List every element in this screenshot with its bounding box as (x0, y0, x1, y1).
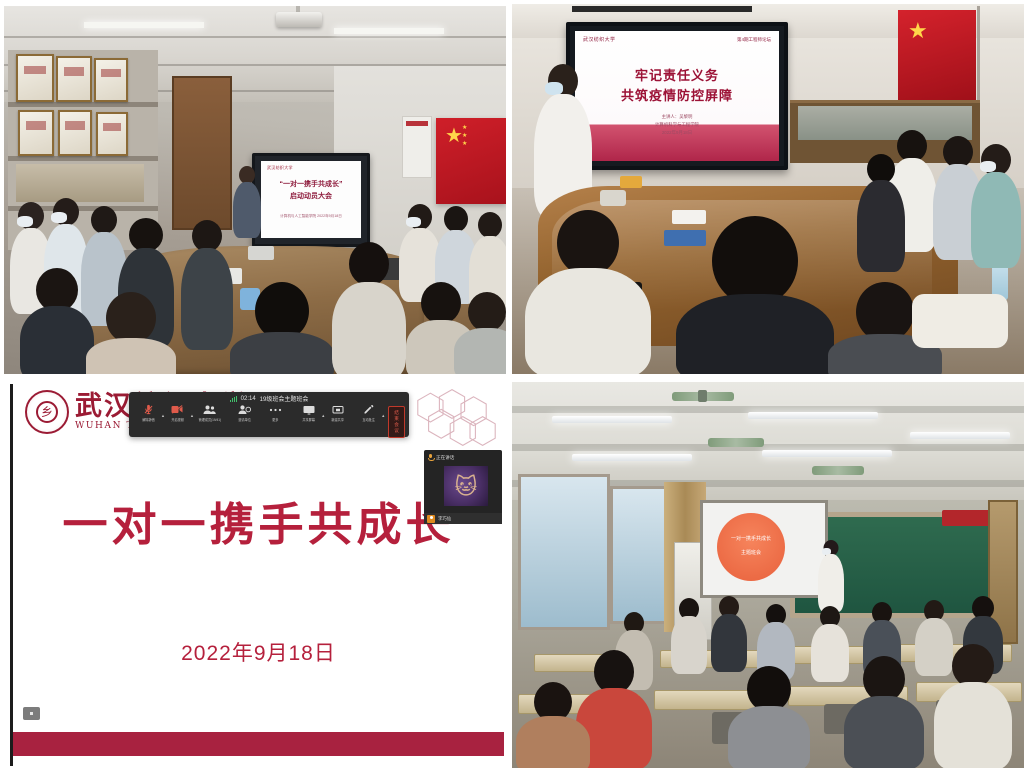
participant-name: 李巧仙 (438, 516, 451, 522)
signal-bars-icon (230, 396, 237, 402)
award-plaque (18, 110, 54, 156)
slide-text-line1: 一对一携手共成长 (717, 535, 785, 543)
photo-collage: ★★★ 武汉纺织大学 “一对一携手共成长” 启动动员大会 (0, 0, 1024, 768)
student-foreground (846, 656, 922, 768)
slide-text-line2: 主题班会 (717, 549, 785, 557)
projection-screen: 一对一携手共成长 主题班会 (700, 500, 828, 598)
participants-icon (203, 404, 216, 415)
avatar: 🐱 (444, 466, 488, 506)
camera-off-icon (171, 404, 184, 415)
pencil-case (620, 176, 642, 188)
speaking-status-label: 正在讲话 (436, 455, 454, 461)
slide-subtitle: 计算机与人工智能学院 2022年9月18日 (261, 213, 361, 219)
toolbar-group-share: 共享屏幕 ▲ 新建共享 (293, 404, 382, 422)
classroom-scene: 一对一携手共成长 主题班会 (512, 382, 1024, 768)
ceiling-light (762, 450, 892, 457)
annotate-icon (362, 404, 375, 415)
university-seal-icon (25, 390, 69, 434)
toolbar-participants-label: 管理成员(19/41) (199, 417, 221, 422)
slide-brand: 武汉纺织大学 (267, 165, 293, 171)
chevron-up-icon[interactable]: ▲ (381, 409, 385, 418)
china-flag-icon (898, 10, 976, 106)
toolbar-participants-button[interactable]: 管理成员(19/41) (191, 404, 229, 422)
slide-title-line2: 共筑疫情防控屏障 (575, 85, 779, 104)
slide-surface: 武汉纺织大学 “一对一携手共成长” 启动动员大会 计算机与人工智能学院 2022… (261, 161, 361, 238)
photo-top-left: ★★★ 武汉纺织大学 “一对一携手共成长” 启动动员大会 (4, 6, 506, 374)
shared-screen-capture: 武汉纺织大学 WUHAN TEXTILE UNIVERSITY 班会 (2, 382, 506, 768)
toolbar-invite-button[interactable]: 邀请单位 (229, 404, 260, 422)
attendee (22, 268, 92, 374)
door (172, 76, 232, 230)
participant-name-bar: 李巧仙 (424, 513, 502, 524)
share-screen-icon (302, 404, 315, 415)
toolbar-controls-row: 解除静音 ▲ (133, 404, 405, 438)
more-icon (269, 404, 282, 415)
seminar-room-scene: ★★★ 武汉纺织大学 “一对一携手共成长” 启动动员大会 (4, 6, 506, 374)
host-badge-icon (427, 515, 435, 523)
toolbar-new-share-button[interactable]: 新建共享 (322, 404, 353, 422)
slide-nav-button[interactable] (23, 707, 40, 720)
attendee (972, 144, 1020, 266)
student (712, 596, 746, 670)
student-foreground (518, 682, 588, 768)
student-foreground (730, 666, 808, 768)
award-plaque (16, 54, 54, 102)
presenter (232, 166, 262, 238)
hexagon-pattern-icon (406, 386, 498, 458)
slide-title-line1: “一对一携手共成长” (261, 179, 361, 189)
award-plaque (58, 110, 92, 156)
cat-avatar-icon: 🐱 (455, 476, 478, 498)
slide-brand-right: 第4期工程师论坛 (737, 37, 771, 43)
photo-bottom-left: 武汉纺织大学 WUHAN TEXTILE UNIVERSITY 班会 (2, 382, 506, 768)
slide-surface: 武汉纺织大学 第4期工程师论坛 牢记责任义务 共筑疫情防控屏障 主讲人：吴黎明 … (575, 31, 779, 161)
ceiling-fan-icon (708, 438, 764, 447)
toolbar-share-screen-label: 共享屏幕 (303, 417, 316, 422)
ceiling-fan-icon (812, 466, 864, 475)
slide-title-line2: 启动动员大会 (261, 191, 361, 201)
ceiling-line (4, 36, 506, 38)
slide-subtitle-line2: 计算机科学与工程学院 (575, 121, 779, 128)
attendee (234, 282, 330, 374)
photo-bottom-right: 一对一携手共成长 主题班会 (512, 382, 1024, 768)
photo-top-right: 武汉纺织大学 第4期工程师论坛 牢记责任义务 共筑疫情防控屏障 主讲人：吴黎明 … (512, 4, 1024, 374)
conference-room-scene: 武汉纺织大学 第4期工程师论坛 牢记责任义务 共筑疫情防控屏障 主讲人：吴黎明 … (512, 4, 1024, 374)
toolbar-more-label: 更多 (272, 417, 278, 422)
toolbar-annotate-button[interactable]: 互动批注 (353, 404, 384, 422)
student (672, 598, 706, 672)
meeting-title: 19级班会主题班会 (260, 394, 309, 403)
shelf-plank (8, 102, 158, 107)
toolbar-status-row: 02:14 19级班会主题班会 (129, 394, 409, 403)
slide-bottom-bar (13, 732, 504, 756)
toolbar-annotate-label: 互动批注 (362, 417, 375, 422)
toolbar-start-video-button[interactable]: 开启视频 (162, 404, 193, 422)
toolbar-unmute-button[interactable]: 解除静音 (133, 404, 164, 422)
ceiling-lamp (334, 28, 444, 34)
award-plaque (96, 112, 128, 156)
attendee (858, 154, 904, 270)
attendee (88, 292, 174, 374)
slide-brand-left: 武汉纺织大学 (583, 36, 615, 43)
whiteboard-icon (331, 404, 344, 415)
toolbar-invite-label: 邀请单位 (238, 417, 251, 422)
toolbar-group-audio-video: 解除静音 ▲ (133, 404, 291, 422)
end-meeting-button[interactable]: 结束会议 (388, 406, 405, 438)
toolbar-unmute-label: 解除静音 (142, 417, 155, 422)
projector-icon (276, 12, 322, 27)
slide-subtitle-line1: 主讲人：吴黎明 (575, 113, 779, 120)
flag-pole (977, 6, 980, 114)
bookcase-glass (798, 106, 972, 140)
student-foreground (936, 644, 1010, 768)
window (518, 474, 610, 630)
tencent-meeting-toolbar[interactable]: 02:14 19级班会主题班会 (129, 392, 409, 437)
presentation-display: 武汉纺织大学 第4期工程师论坛 牢记责任义务 共筑疫情防控屏障 主讲人：吴黎明 … (566, 22, 788, 170)
attendee (334, 242, 404, 374)
attendee-foreground (528, 210, 648, 374)
microphone-muted-icon (142, 404, 155, 415)
attendee (456, 292, 506, 374)
ceiling-rail (572, 6, 752, 12)
jacket-on-table (912, 294, 1008, 348)
toolbar-new-share-label: 新建共享 (331, 417, 344, 422)
ceiling-fan-hub (698, 390, 707, 402)
microphone-icon (428, 454, 433, 461)
china-flag-icon: ★★★ (436, 118, 506, 204)
red-banner-sign (942, 510, 992, 526)
speaking-status: 正在讲话 (428, 454, 454, 461)
attendee-foreground (680, 216, 830, 374)
ceiling-light (910, 432, 1010, 439)
toolbar-start-video-label: 开启视频 (171, 417, 184, 422)
toolbar-share-screen-button[interactable]: 共享屏幕 (293, 404, 324, 422)
projection-screen: 武汉纺织大学 “一对一携手共成长” 启动动员大会 计算机与人工智能学院 2022… (252, 153, 370, 247)
ceiling-light (552, 416, 672, 423)
slide-date: 2022年9月18日 (13, 637, 504, 667)
invite-icon (238, 404, 251, 415)
cup (600, 190, 626, 206)
presentation-slide: 武汉纺织大学 WUHAN TEXTILE UNIVERSITY 班会 (10, 384, 504, 766)
teacher (818, 540, 844, 610)
toolbar-more-button[interactable]: 更多 (260, 404, 291, 422)
ceiling-light (748, 412, 878, 419)
shelf-books (16, 164, 144, 202)
participant-video-thumbnail[interactable]: 正在讲话 🐱 李巧仙 (424, 450, 502, 524)
ceiling-light (572, 454, 692, 461)
slide-circle: 一对一携手共成长 主题班会 (717, 513, 785, 581)
award-plaque (56, 56, 92, 102)
papers (248, 246, 274, 260)
award-plaque (94, 58, 128, 102)
slide-title-line1: 牢记责任义务 (575, 65, 779, 84)
meeting-timer: 02:14 (241, 396, 256, 402)
attendee (182, 220, 232, 348)
slide-subtitle-line3: 2022年9月18日 (575, 129, 779, 136)
notice-board (402, 116, 432, 178)
student (812, 606, 848, 680)
shelf-plank (8, 156, 158, 161)
ceiling-lamp (84, 22, 204, 28)
